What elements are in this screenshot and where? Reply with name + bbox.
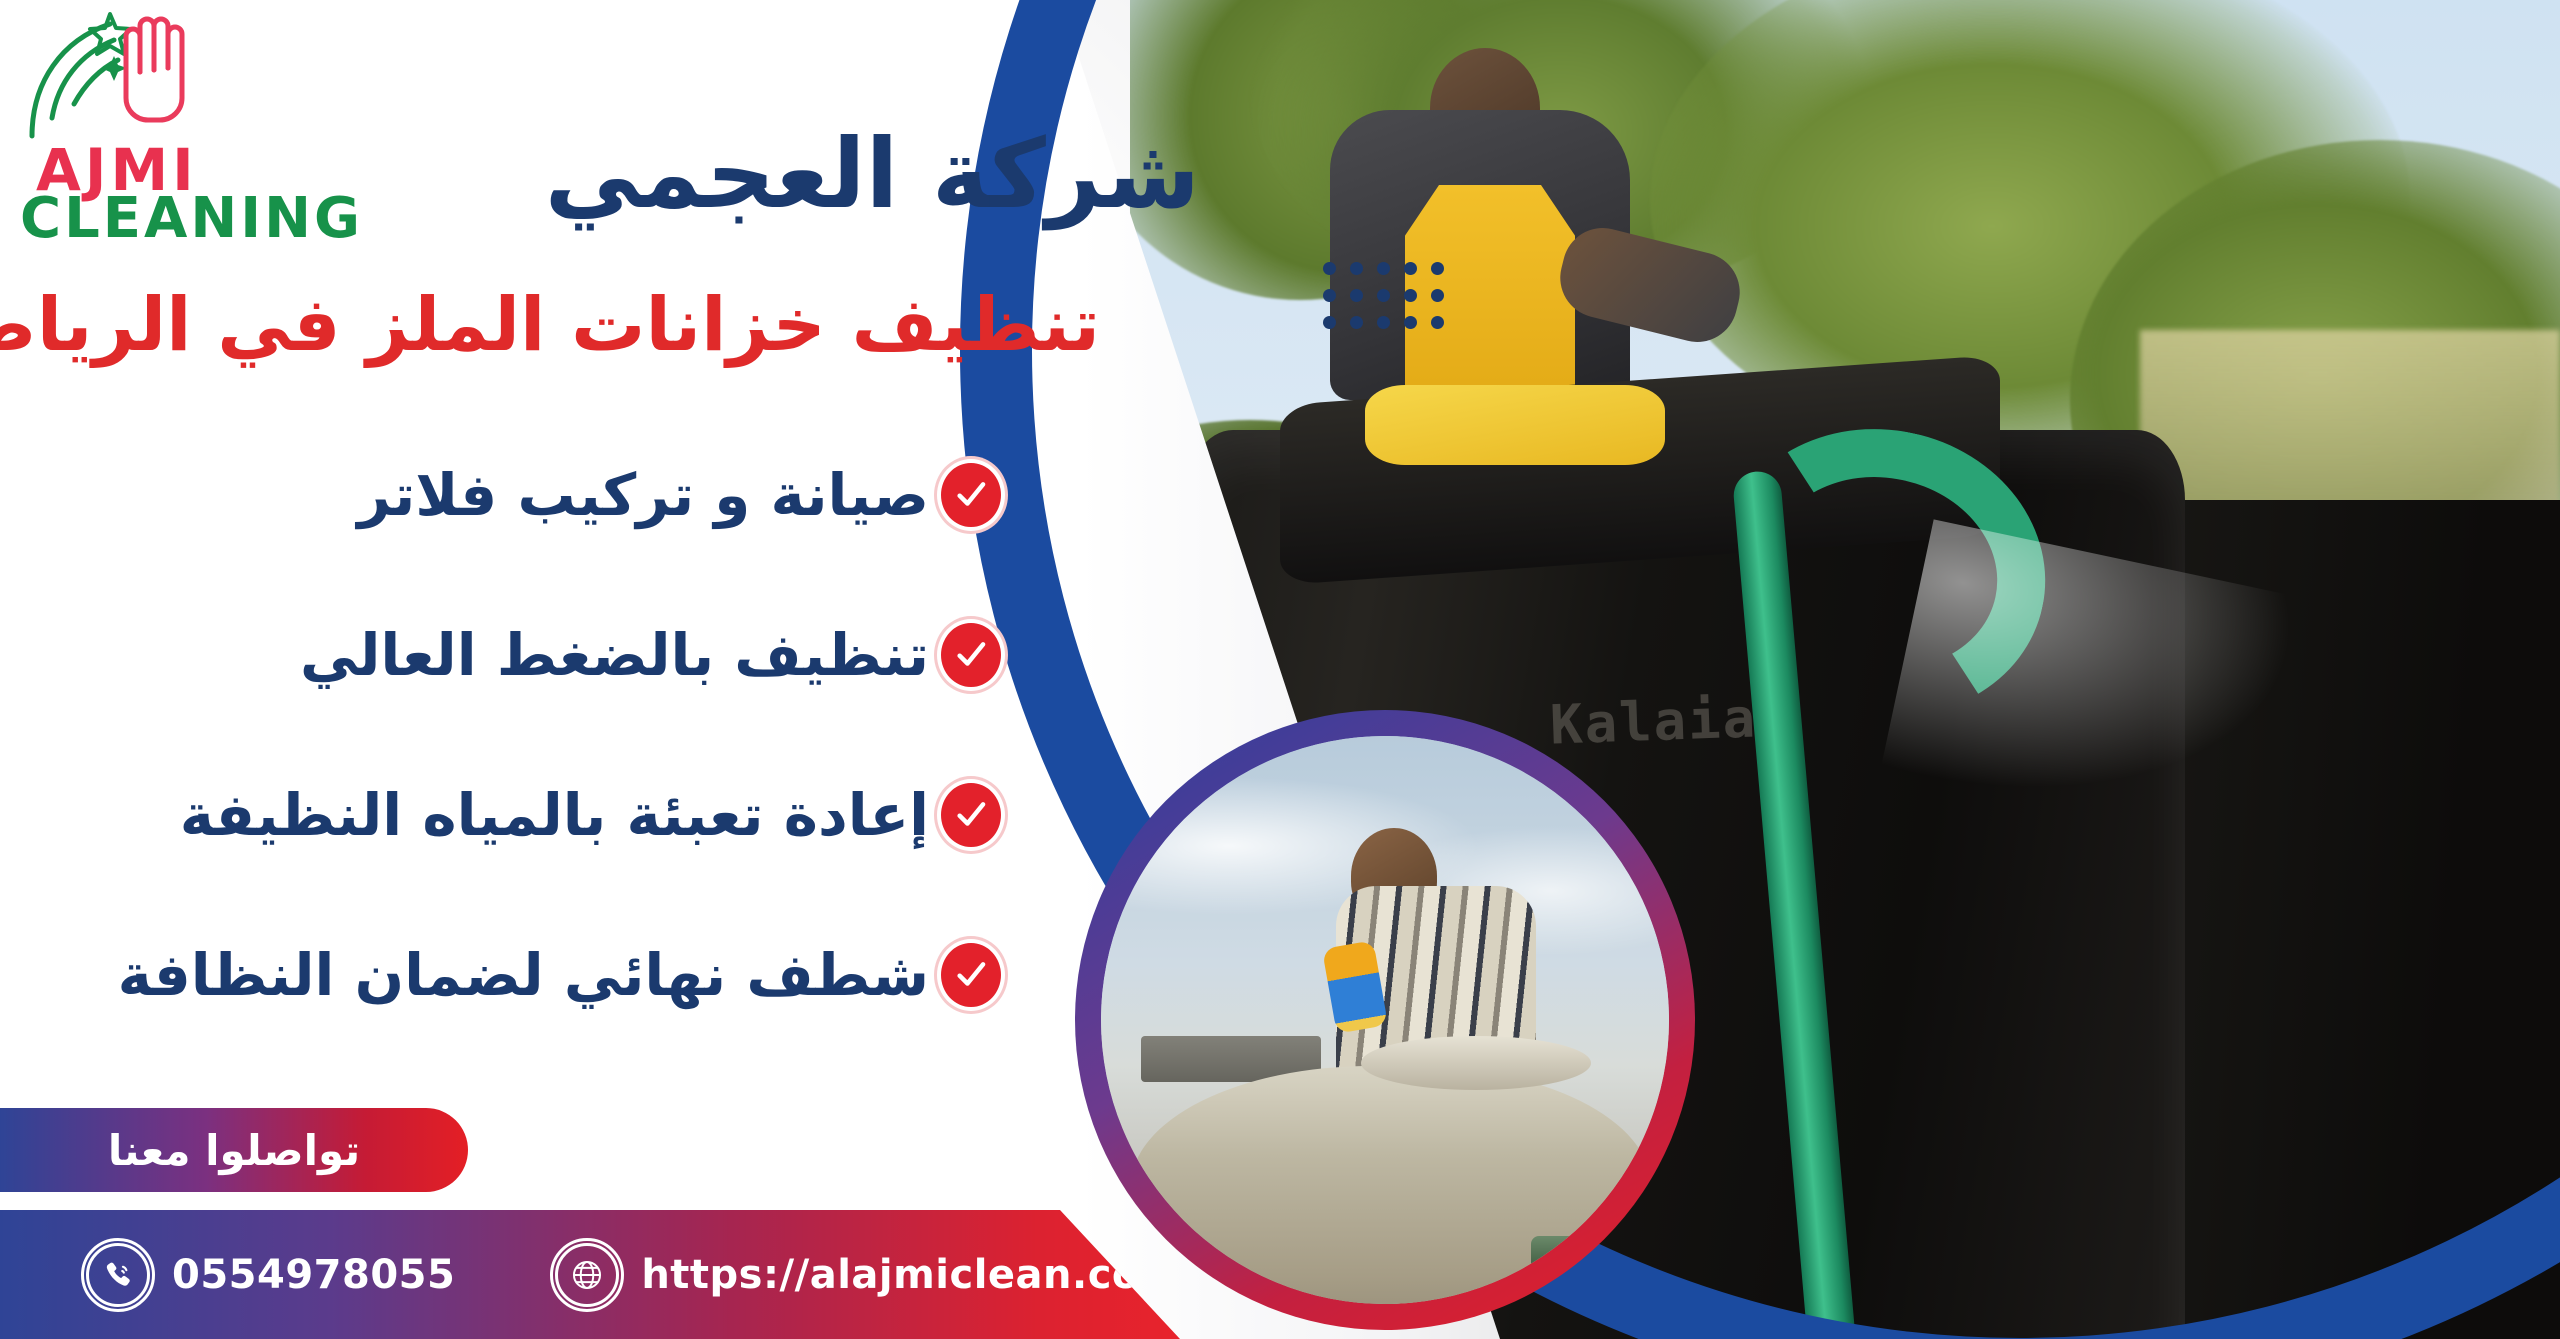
contact-us-button[interactable]: تواصلوا معنا <box>0 1108 468 1192</box>
inset-photo-circle <box>1075 710 1695 1330</box>
feature-list: صيانة و تركيب فلاتر تنظيف بالضغط العالي … <box>118 455 1005 1015</box>
check-circle-icon <box>937 939 1005 1011</box>
list-item: صيانة و تركيب فلاتر <box>118 455 1005 535</box>
contact-footer: 0554978055 https://alajmiclean.com <box>0 1210 1180 1339</box>
page-title: شركة العجمي <box>545 118 1200 230</box>
list-item: شطف نهائي لضمان النظافة <box>118 935 1005 1015</box>
globe-icon <box>555 1243 619 1307</box>
phone-ringing-icon <box>86 1243 150 1307</box>
feature-label: تنظيف بالضغط العالي <box>300 621 929 689</box>
feature-label: شطف نهائي لضمان النظافة <box>118 941 929 1009</box>
dot-grid-decoration <box>1318 262 1444 334</box>
website-url: https://alajmiclean.com <box>641 1252 1182 1298</box>
inset-tank-pipe <box>1531 1236 1651 1270</box>
page-subtitle: تنظيف خزانات الملز في الرياض <box>0 282 1100 368</box>
phone-number: 0554978055 <box>172 1252 455 1298</box>
check-circle-icon <box>937 619 1005 691</box>
promotional-banner: Kalaia <box>0 0 2560 1339</box>
hand-with-sparkle-star-icon <box>14 8 314 148</box>
company-logo[interactable]: AJMI CLEANING <box>14 8 314 238</box>
check-circle-icon <box>937 779 1005 851</box>
feature-label: صيانة و تركيب فلاتر <box>357 461 929 529</box>
logo-text-cleaning: CLEANING <box>20 186 363 251</box>
list-item: إعادة تعبئة بالمياه النظيفة <box>118 775 1005 855</box>
feature-label: إعادة تعبئة بالمياه النظيفة <box>180 781 929 849</box>
phone-contact[interactable]: 0554978055 <box>86 1243 455 1307</box>
inset-photo <box>1101 736 1669 1304</box>
website-contact[interactable]: https://alajmiclean.com <box>555 1243 1182 1307</box>
list-item: تنظيف بالضغط العالي <box>118 615 1005 695</box>
contact-us-label: تواصلوا معنا <box>108 1126 360 1175</box>
check-circle-icon <box>937 459 1005 531</box>
